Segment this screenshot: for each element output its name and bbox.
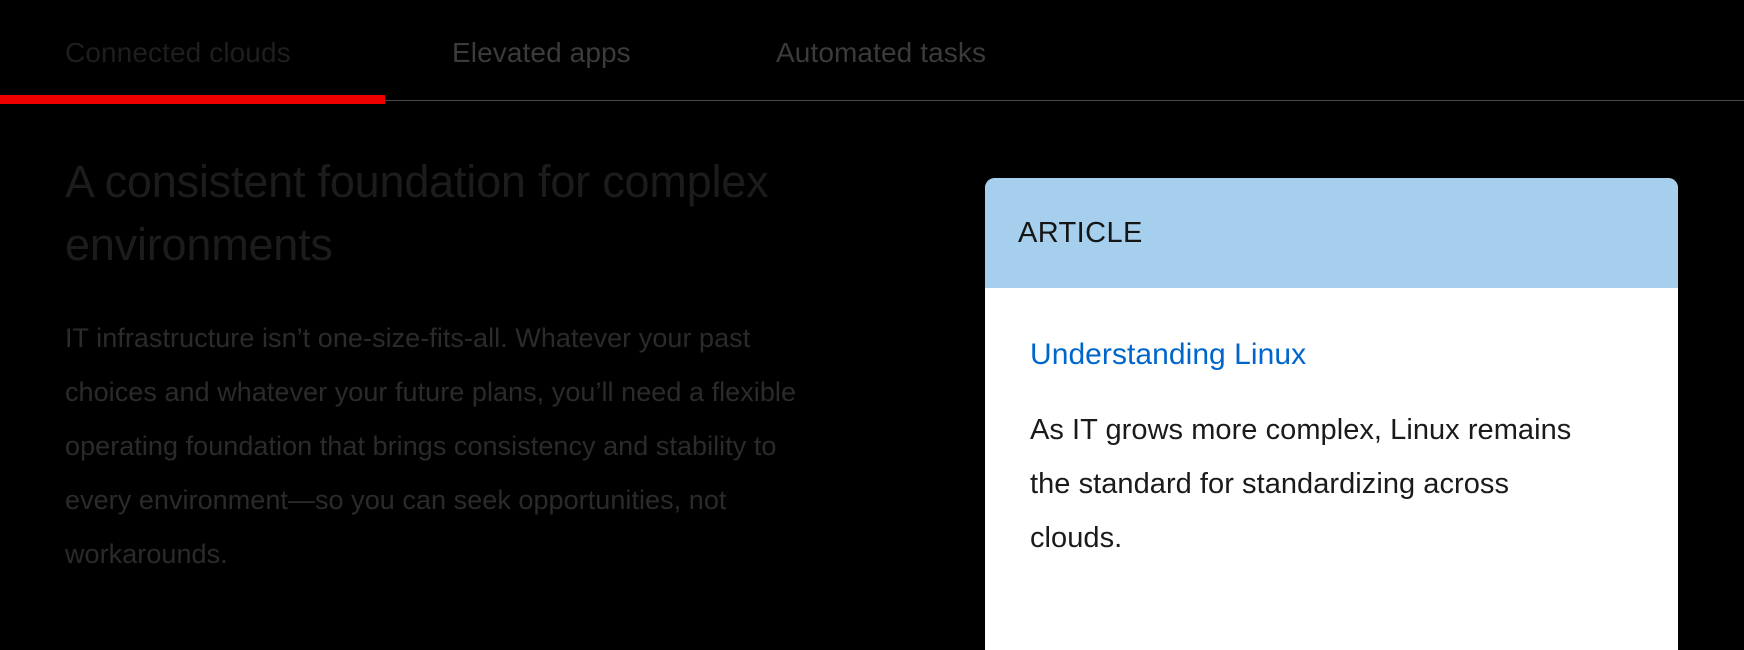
content-column: A consistent foundation for complex envi… (65, 150, 865, 581)
page-root: Connected clouds Elevated apps Automated… (0, 0, 1744, 650)
article-card-body: Understanding Linux As IT grows more com… (985, 288, 1678, 565)
tab-elevated-apps[interactable]: Elevated apps (452, 34, 631, 72)
tab-connected-clouds[interactable]: Connected clouds (65, 34, 291, 72)
article-card-header: ARTICLE (985, 178, 1678, 288)
article-summary-text: As IT grows more complex, Linux remains … (1030, 403, 1590, 565)
tab-bar: Connected clouds Elevated apps Automated… (0, 0, 1744, 104)
active-tab-indicator (0, 95, 385, 104)
tab-automated-tasks[interactable]: Automated tasks (776, 34, 986, 72)
article-kicker-label: ARTICLE (1018, 215, 1143, 251)
page-description: IT infrastructure isn’t one-size-fits-al… (65, 311, 825, 581)
article-title-link[interactable]: Understanding Linux (1030, 335, 1306, 375)
article-card[interactable]: ARTICLE Understanding Linux As IT grows … (985, 178, 1678, 650)
page-title: A consistent foundation for complex envi… (65, 150, 855, 276)
